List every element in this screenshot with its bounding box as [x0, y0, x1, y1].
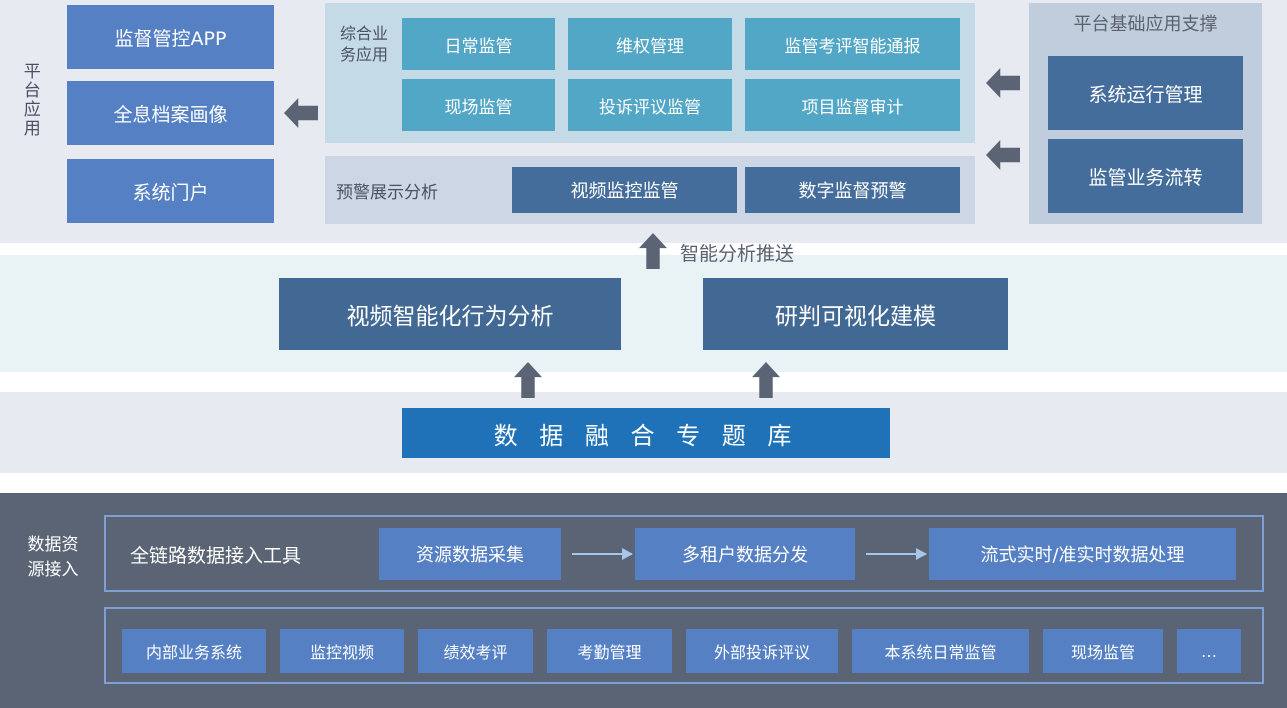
tile-evaluation-notification[interactable]: 监管考评智能通报 — [745, 18, 960, 70]
tile-label: 系统门户 — [132, 178, 208, 205]
tile-label: 现场监管 — [1071, 639, 1135, 663]
tile-label: 维权管理 — [616, 32, 684, 57]
tile-label: 绩效考评 — [443, 639, 507, 663]
tile-system-portal[interactable]: 系统门户 — [67, 159, 274, 223]
tile-external-complaint-review[interactable]: 外部投诉评议 — [686, 629, 838, 673]
tile-supervision-business-flow[interactable]: 监管业务流转 — [1048, 139, 1243, 213]
tile-label: 监管业务流转 — [1088, 163, 1202, 190]
tile-holographic-archive[interactable]: 全息档案画像 — [67, 81, 274, 145]
tile-label: 系统运行管理 — [1088, 80, 1202, 107]
tile-label: 内部业务系统 — [146, 639, 242, 663]
tile-complaint-review-supervision[interactable]: 投诉评议监管 — [568, 79, 732, 131]
tile-data-fusion-library[interactable]: 数 据 融 合 专 题 库 — [402, 408, 890, 458]
tile-visual-modeling[interactable]: 研判可视化建模 — [703, 278, 1008, 350]
tile-performance-evaluation[interactable]: 绩效考评 — [418, 629, 533, 673]
tile-multi-tenant-distribution[interactable]: 多租户数据分发 — [635, 528, 855, 580]
tile-label: 投诉评议监管 — [599, 93, 701, 118]
tile-attendance-management[interactable]: 考勤管理 — [547, 629, 672, 673]
tile-daily-supervision[interactable]: 日常监管 — [402, 18, 555, 70]
tile-system-operation-management[interactable]: 系统运行管理 — [1048, 56, 1243, 130]
tile-label: … — [1201, 642, 1217, 661]
tile-system-daily-supervision[interactable]: 本系统日常监管 — [852, 629, 1029, 673]
tile-label: 数字监督预警 — [799, 177, 907, 203]
tile-internal-business-system[interactable]: 内部业务系统 — [122, 629, 266, 673]
tile-label: 全息档案画像 — [113, 100, 227, 127]
tile-label: 监控视频 — [310, 639, 374, 663]
tile-label: 现场监管 — [445, 93, 513, 118]
tile-label: 项目监督审计 — [802, 93, 904, 118]
alert-analysis-label: 预警展示分析 — [336, 178, 496, 203]
tile-label: 监督管控APP — [115, 24, 227, 51]
tile-onsite-supervision-source[interactable]: 现场监管 — [1043, 629, 1163, 673]
platform-support-title: 平台基础应用支撑 — [1029, 10, 1262, 36]
tile-label: 资源数据采集 — [416, 541, 524, 567]
connector-arrow-1 — [572, 553, 632, 555]
tile-more-ellipsis[interactable]: … — [1177, 629, 1241, 673]
tile-video-behavior-analysis[interactable]: 视频智能化行为分析 — [279, 278, 621, 350]
intelligent-analysis-push-label: 智能分析推送 — [680, 239, 794, 266]
tile-label: 外部投诉评议 — [714, 639, 810, 663]
business-application-label: 综合业务应用 — [336, 24, 392, 66]
intelligent-analysis-band — [0, 255, 1287, 372]
tile-label: 研判可视化建模 — [775, 297, 936, 331]
tile-onsite-supervision[interactable]: 现场监管 — [402, 79, 555, 131]
tile-supervision-app[interactable]: 监督管控APP — [67, 5, 274, 69]
tile-label: 流式实时/准实时数据处理 — [980, 541, 1184, 567]
tile-label: 日常监管 — [445, 32, 513, 57]
data-source-access-label: 数据资源接入 — [22, 533, 84, 582]
tile-label: 多租户数据分发 — [682, 541, 808, 567]
tile-digital-supervision-alert[interactable]: 数字监督预警 — [745, 167, 960, 213]
tile-label: 本系统日常监管 — [884, 639, 996, 663]
tile-label: 监管考评智能通报 — [785, 32, 921, 57]
platform-application-label: 平台应用 — [18, 62, 40, 138]
tile-label: 视频监控监管 — [571, 177, 679, 203]
tile-monitoring-video[interactable]: 监控视频 — [280, 629, 404, 673]
tile-label: 考勤管理 — [577, 639, 641, 663]
tile-label: 视频智能化行为分析 — [347, 297, 554, 331]
connector-arrow-2 — [866, 553, 926, 555]
tile-streaming-realtime-processing[interactable]: 流式实时/准实时数据处理 — [929, 528, 1236, 580]
tile-project-supervision-audit[interactable]: 项目监督审计 — [745, 79, 960, 131]
pipeline-title: 全链路数据接入工具 — [130, 541, 380, 568]
tile-label: 数 据 融 合 专 题 库 — [494, 416, 799, 451]
tile-rights-management[interactable]: 维权管理 — [568, 18, 732, 70]
tile-video-monitoring-supervision[interactable]: 视频监控监管 — [512, 167, 737, 213]
tile-resource-data-collection[interactable]: 资源数据采集 — [379, 528, 561, 580]
